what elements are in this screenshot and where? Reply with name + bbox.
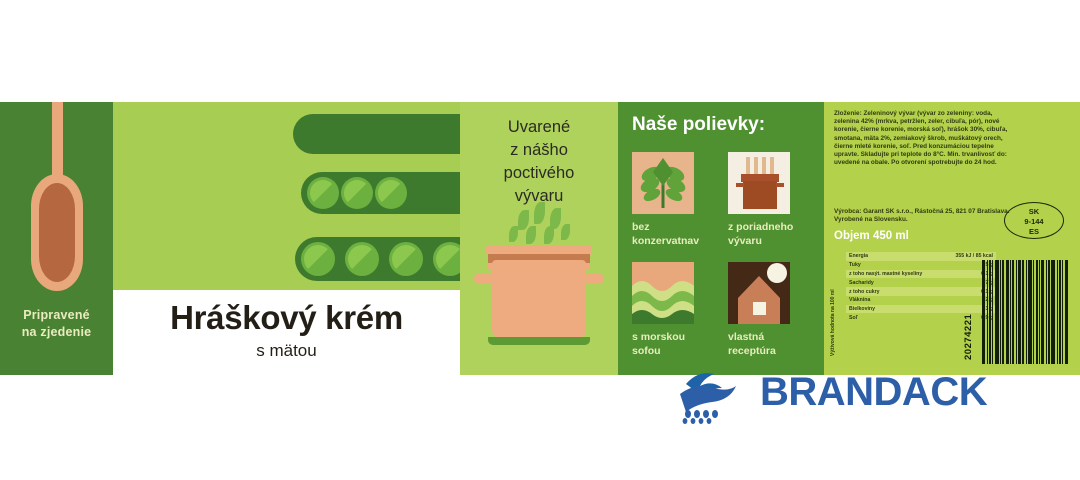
mint-leaf-icon — [561, 224, 570, 240]
manufacturer-label: Výrobca: — [834, 208, 861, 215]
icon-own-recipe — [728, 262, 790, 324]
spoon-bowl-icon — [31, 174, 83, 291]
icon-no-preservatives — [632, 152, 694, 214]
caption-line-1: vlastná — [728, 330, 814, 344]
caption-line-2: receptúra — [728, 344, 814, 358]
caption-real-broth: z poriadneho vývaru — [728, 220, 814, 248]
pot-handle-left-icon — [474, 274, 494, 283]
broth-line-2: z nášho — [460, 139, 618, 162]
barcode-bar — [1028, 260, 1032, 364]
nutrition-side-label-text: Výživová hodnota na 100 ml — [830, 289, 836, 356]
barcode-bar — [1051, 260, 1055, 364]
house-icon — [728, 262, 790, 324]
pea — [307, 177, 339, 209]
nutrition-name: z toho cukry — [846, 287, 943, 296]
nutrition-name: Bielkoviny — [846, 305, 943, 314]
barcode-bar — [1026, 260, 1027, 364]
pea — [389, 242, 423, 276]
pea-highlight — [392, 245, 420, 273]
caption-sea-salt: s morskou sofou — [632, 330, 718, 358]
barcode-bar — [1048, 260, 1050, 364]
mint-leaf-icon — [518, 210, 529, 230]
barcode-bar — [992, 260, 993, 364]
icon-real-broth — [728, 152, 790, 214]
barcode-bar — [1000, 260, 1001, 364]
mint-leaf-icon — [632, 152, 694, 214]
ready-line-2: na zjedenie — [0, 324, 113, 341]
broth-claim-text: Uvarené z nášho poctivého vývaru — [460, 116, 618, 208]
brandack-wordmark: BRANDACK — [760, 370, 987, 415]
pea-highlight — [348, 245, 376, 273]
health-mark-line-3: ES — [1005, 227, 1063, 237]
nutrition-name: Tuky — [846, 261, 943, 270]
nutrition-name: Soľ — [846, 313, 943, 322]
caption-line-2: konzervatnav — [632, 234, 718, 248]
sea-waves-icon — [632, 262, 694, 324]
pea — [375, 177, 407, 209]
barcode-bar — [987, 260, 988, 364]
health-mark-line-2: 9-144 — [1005, 217, 1063, 227]
ingredients-label: Zloženie: — [834, 110, 862, 117]
manufacturer-text: Garant SK s.r.o., Rástočná 25, 821 07 Br… — [834, 208, 1009, 223]
pea-highlight — [344, 180, 370, 206]
info-panel: Zloženie: Zeleninový vývar (vývar zo zel… — [824, 102, 1080, 375]
pot-base-icon — [488, 337, 590, 345]
caption-own-recipe: vlastná receptúra — [728, 330, 814, 358]
barcode-bar — [1059, 260, 1061, 364]
pea — [341, 177, 373, 209]
middle-panel: Uvarené z nášho poctivého vývaru — [460, 102, 618, 375]
barcode-bar — [1022, 260, 1024, 364]
soups-title: Naše polievky: — [632, 114, 765, 136]
barcode-number: 20274221 — [962, 260, 976, 364]
page-title: Hráškový krém — [113, 299, 460, 337]
ready-line-1: Pripravené — [0, 307, 113, 324]
pea-highlight — [304, 245, 332, 273]
barcode-bar — [1065, 260, 1068, 364]
health-mark-line-1: SK — [1005, 207, 1063, 217]
barcode-bar — [1016, 260, 1017, 364]
barcode-bar — [1002, 260, 1004, 364]
pea-highlight — [378, 180, 404, 206]
nutrition-name: Sacharidy — [846, 278, 943, 287]
caption-line-1: s morskou — [632, 330, 718, 344]
pea-highlight — [310, 180, 336, 206]
caption-line-2: vývaru — [728, 234, 814, 248]
barcode-bar — [1057, 260, 1058, 364]
caption-line-1: bez — [632, 220, 718, 234]
pea — [301, 242, 335, 276]
nutrition-name: z toho nasýt. mastné kyseliny — [846, 270, 943, 279]
brandack-mark-icon — [672, 368, 752, 426]
barcode — [982, 260, 1070, 364]
spoon-bowl-inner — [39, 183, 75, 282]
barcode-bar — [989, 260, 991, 364]
pot-handle-right-icon — [584, 274, 604, 283]
barcode-number-text: 20274221 — [963, 314, 974, 360]
ready-to-eat-text: Pripravené na zjedenie — [0, 307, 113, 341]
ingredients-text: Zeleninový vývar (vývar zo zeleniny: vod… — [834, 110, 1007, 166]
nutrition-name: Vláknina — [846, 296, 943, 305]
icon-sea-salt — [632, 262, 694, 324]
manufacturer-block: Výrobca: Garant SK s.r.o., Rástočná 25, … — [834, 208, 1024, 225]
our-soups-panel: Naše polievky: bez konzervatnav — [618, 102, 824, 375]
barcode-bar — [1039, 260, 1040, 364]
barcode-bar — [1012, 260, 1014, 364]
barcode-bar — [1041, 260, 1044, 364]
caption-line-1: z poriadneho — [728, 220, 814, 234]
caption-line-2: sofou — [632, 344, 718, 358]
barcode-bar — [1033, 260, 1034, 364]
ingredients-block: Zloženie: Zeleninový vývar (vývar zo zel… — [834, 110, 1014, 167]
barcode-bar — [1036, 260, 1038, 364]
mint-leaf-icon — [534, 202, 545, 224]
barcode-bar — [1062, 260, 1063, 364]
nutrition-name: Energia — [846, 252, 943, 261]
broth-line-3: poctivého — [460, 162, 618, 185]
barcode-bar — [1018, 260, 1021, 364]
mint-leaf-icon — [544, 226, 554, 244]
cooking-pot-icon — [492, 260, 586, 338]
broth-pot-icon — [728, 152, 790, 214]
left-panel: Pripravené na zjedenie — [0, 102, 113, 375]
barcode-bar — [982, 260, 985, 364]
barcode-bar — [1006, 260, 1009, 364]
barcode-bar — [1046, 260, 1047, 364]
pea — [345, 242, 379, 276]
nutrition-side-label: Výživová hodnota na 100 ml — [828, 252, 842, 360]
mint-leaf-icon — [509, 226, 518, 242]
mint-leaf-icon — [526, 226, 536, 244]
barcode-bar — [1010, 260, 1011, 364]
volume-text: Objem 450 ml — [834, 230, 909, 242]
health-mark-stamp: SK 9-144 ES — [1004, 202, 1064, 239]
barcode-bar — [995, 260, 999, 364]
broth-line-1: Uvarené — [460, 116, 618, 139]
brandack-logo: BRANDACK — [672, 368, 1022, 428]
product-label: Pripravené na zjedenie — [0, 102, 1080, 375]
product-subtitle: s mätou — [113, 341, 460, 361]
caption-no-preservatives: bez konzervatnav — [632, 220, 718, 248]
